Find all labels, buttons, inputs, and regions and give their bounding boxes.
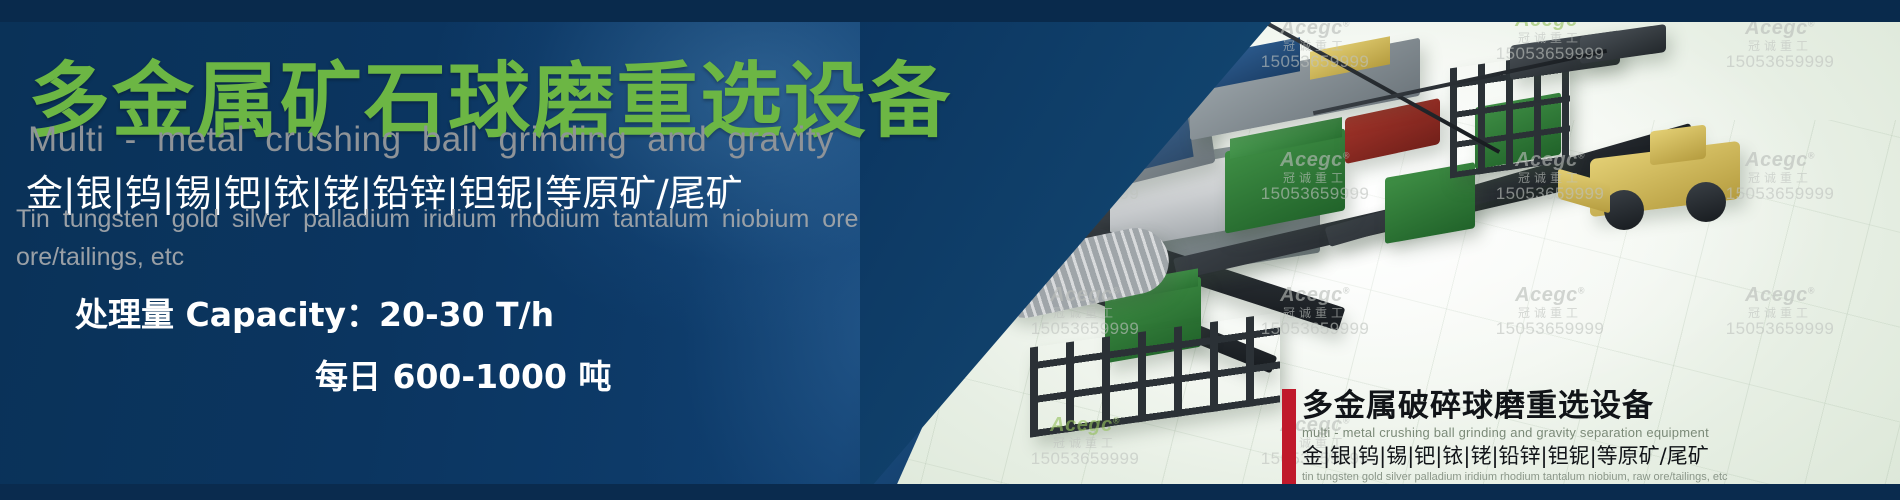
caption-red-accent-bar bbox=[1282, 389, 1296, 486]
top-border-strip bbox=[0, 0, 1900, 22]
wheel-loader-wheel-front bbox=[1604, 190, 1644, 230]
caption-mineral-list: 金|银|钨|锡|钯|铱|铑|铅锌|钽铌|等原矿/尾矿 bbox=[1302, 443, 1728, 470]
photo-caption-block: 多金属破碎球磨重选设备 multi - metal crushing ball … bbox=[1282, 389, 1882, 486]
wheel-loader-cab bbox=[1650, 125, 1706, 166]
wheel-loader-wheel-rear bbox=[1686, 182, 1726, 222]
mineral-list-en-continued: ore/tailings, etc bbox=[16, 243, 184, 272]
page-subtitle-en: Multi - metal crushing ball grinding and… bbox=[28, 120, 834, 160]
bottom-border-strip bbox=[0, 484, 1900, 500]
capacity-line: 处理量 Capacity：20-30 T/h bbox=[75, 288, 554, 336]
caption-subtitle-en: multi - metal crushing ball grinding and… bbox=[1302, 423, 1728, 443]
mineral-list-en: Tin tungsten gold silver palladium iridi… bbox=[16, 205, 858, 234]
promotional-banner: Acegc® 冠诚重工 15053659999 Acegc® 冠诚重工 1505… bbox=[0, 0, 1900, 500]
caption-title: 多金属破碎球磨重选设备 bbox=[1302, 389, 1728, 424]
daily-output-line: 每日 600-1000 吨 bbox=[315, 350, 611, 398]
